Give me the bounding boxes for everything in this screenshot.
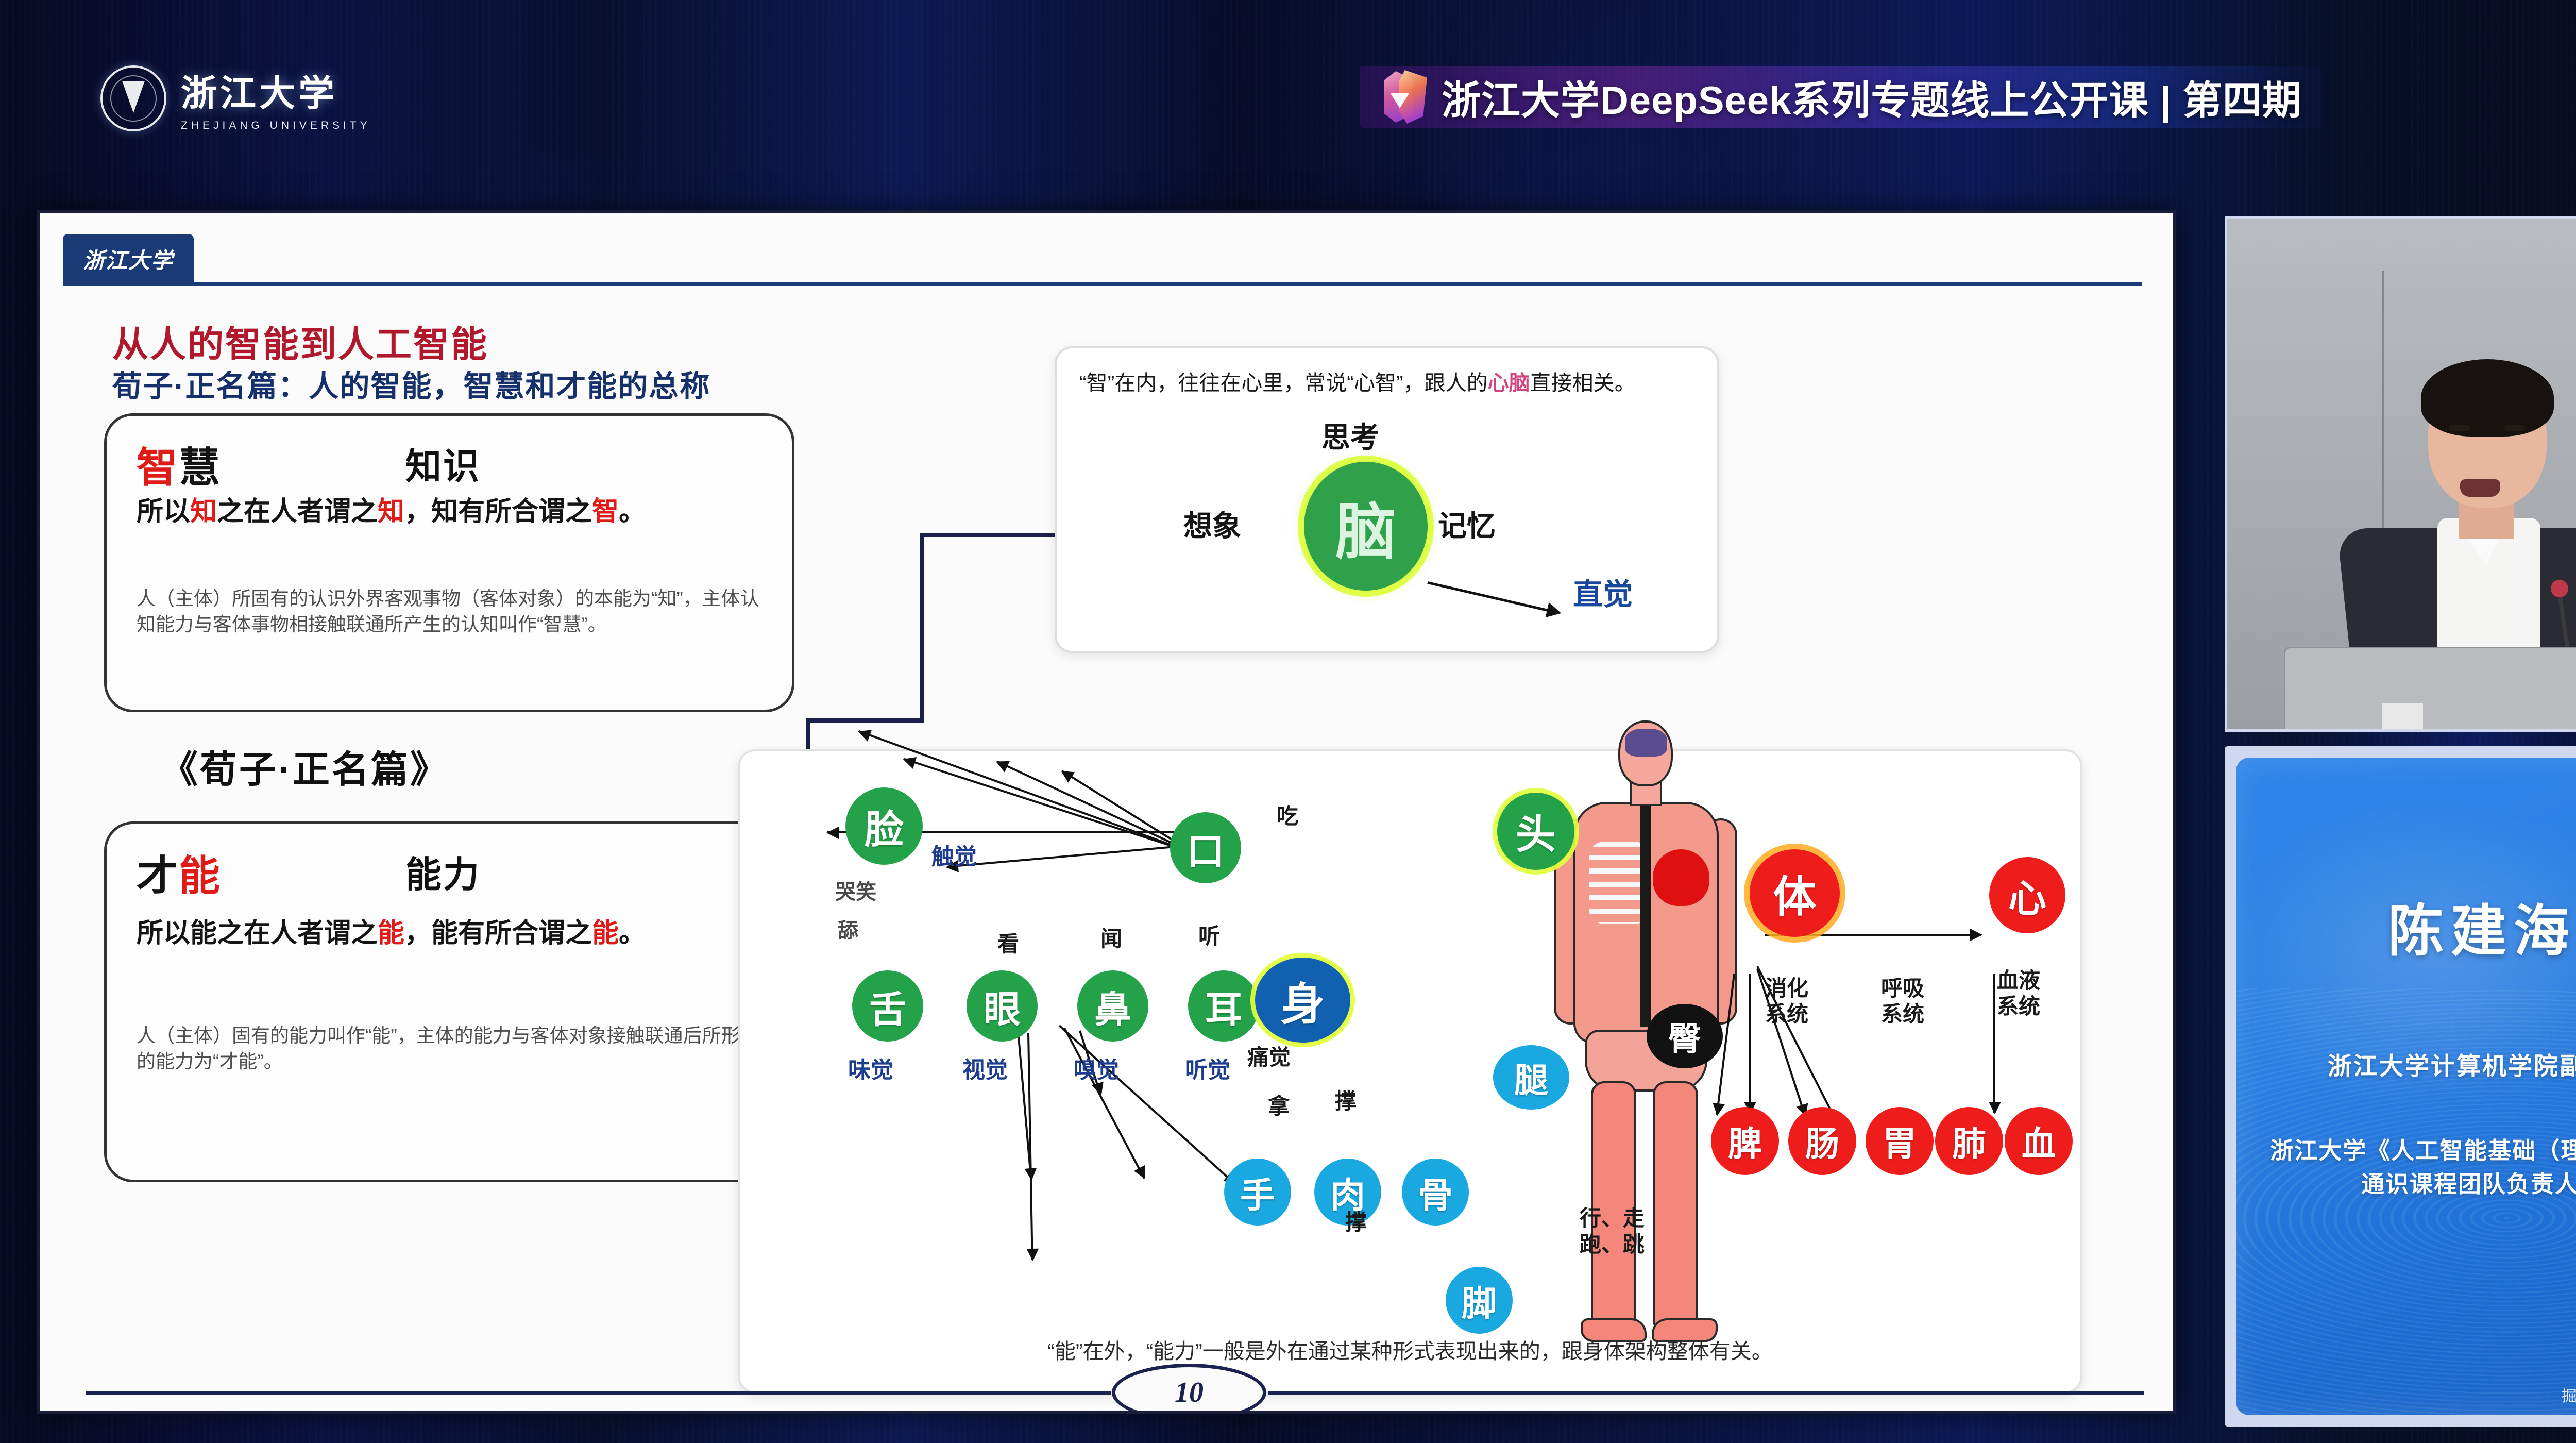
node-bone[interactable]: 骨 [1402, 1159, 1469, 1226]
card-ability-term-b: 能力 [405, 846, 481, 898]
arrow-head-to-mouth [947, 844, 1194, 868]
body-diagram-panel: 头 脸 口 舌 眼 鼻 耳 身 手 肉 骨 腿 脚 臀 体 心 脾 肠 胃 肺 … [738, 749, 2082, 1394]
node-nose[interactable]: 鼻 [1077, 970, 1148, 1042]
label-pain: 痛觉 [1247, 1040, 1291, 1071]
node-leg[interactable]: 腿 [1493, 1045, 1569, 1110]
label-walk-run-jump: 行、走 跑、跳 [1580, 1205, 1645, 1257]
card-wisdom-note: 人（主体）所固有的认识外界客观事物（客体对象）的本能为“知”，主体认知能力与客体… [137, 586, 773, 638]
card-ability: 才能 能力 所以能之在人者谓之能，能有所合谓之能。 人（主体）固有的能力叫作“能… [104, 821, 794, 1182]
card-ability-term: 才能 [137, 843, 221, 902]
course-banner: 浙江大学DeepSeek系列专题线上公开课 | 第四期 [1360, 66, 2323, 128]
arrow-head-to-nose [997, 761, 1194, 854]
zju-seal-icon [100, 65, 166, 131]
node-mouth[interactable]: 口 [1170, 812, 1241, 883]
slide-panel[interactable]: 浙江大学 从人的智能到人工智能 荀子·正名篇：人的智能，智慧和才能的总称 智慧 … [37, 210, 2176, 1414]
label-eat: 吃 [1277, 799, 1298, 830]
slide-brand-tab: 浙江大学 [63, 234, 194, 283]
deepseek-play-logo-icon [1381, 70, 1428, 124]
watermark: 掘金技术社区 @ 吾鸣 [2562, 1383, 2576, 1406]
source-citation: 《荀子·正名篇》 [161, 739, 449, 793]
speaker-info-card: 陈建海 浙江大学计算机学院副教授 浙江大学《人工智能基础（理工农医）》通识课程团… [2225, 746, 2576, 1427]
label-circulatory-system: 血液 系统 [1997, 968, 2040, 1020]
node-brain[interactable]: 脑 [1304, 462, 1428, 591]
card-wisdom-term-b: 知识 [405, 438, 481, 490]
node-blood[interactable]: 血 [2005, 1107, 2073, 1175]
arrow-heart-to-blood [1993, 974, 1995, 1113]
node-eye[interactable]: 眼 [967, 970, 1038, 1042]
zju-logo: 浙江大学 ZHEJIANG UNIVERSITY [100, 64, 371, 132]
node-intestine[interactable]: 肠 [1788, 1107, 1856, 1175]
node-hip[interactable]: 臀 [1647, 1004, 1723, 1068]
node-hand[interactable]: 手 [1224, 1159, 1291, 1226]
banner-title: 浙江大学DeepSeek系列专题线上公开课 | 第四期 [1442, 69, 2302, 125]
connector-top [806, 718, 920, 723]
card-ability-note: 人（主体）固有的能力叫作“能”，主体的能力与客体对象接触联通后所形成的能力为“才… [137, 1023, 773, 1075]
arrow-to-intuition [1427, 581, 1559, 614]
label-sight: 视觉 [962, 1051, 1008, 1084]
speaker-role: 浙江大学计算机学院副教授 [2236, 1046, 2576, 1082]
node-ti[interactable]: 体 [1750, 849, 1840, 937]
node-stomach[interactable]: 胃 [1866, 1107, 1934, 1175]
connector-brain-vertical [920, 533, 924, 723]
label-imagine: 想象 [1183, 503, 1241, 545]
arrow-body-to-flesh [1063, 1028, 1145, 1179]
node-shen[interactable]: 身 [1255, 958, 1350, 1043]
node-spleen[interactable]: 脾 [1711, 1107, 1779, 1175]
label-intuition: 直觉 [1573, 570, 1633, 613]
speaker-name: 陈建海 [2236, 886, 2576, 967]
page-number: 10 [1175, 1376, 1204, 1409]
slide-brand-tab-label: 浙江大学 [83, 243, 174, 275]
speaker-video-feed[interactable] [2225, 216, 2576, 732]
connector-brain-horizontal [920, 533, 1059, 537]
brain-note: “智”在内，往往在心里，常说“心智”，跟人的心脑直接相关。 [1079, 368, 1700, 398]
zju-name-en: ZHEJIANG UNIVERSITY [181, 120, 371, 132]
slide-header-rule [63, 282, 2142, 286]
label-listen: 听 [1198, 919, 1220, 950]
label-support-2: 撑 [1345, 1205, 1367, 1236]
label-memory: 记忆 [1438, 503, 1496, 545]
label-think: 思考 [1321, 414, 1379, 456]
label-touch: 触觉 [931, 838, 977, 871]
card-ability-quote: 所以能之在人者谓之能，能有所合谓之能。 [137, 916, 774, 952]
node-ear[interactable]: 耳 [1188, 970, 1259, 1042]
node-face[interactable]: 脸 [845, 787, 923, 865]
brain-panel: “智”在内，往往在心里，常说“心智”，跟人的心脑直接相关。 思考 想象 记忆 脑… [1055, 346, 1719, 653]
label-digestive-system: 消化 系统 [1765, 976, 1808, 1028]
node-heart[interactable]: 心 [1989, 857, 2065, 933]
label-cry-laugh: 哭笑 [835, 875, 876, 905]
label-hearing: 听觉 [1185, 1051, 1230, 1084]
node-tongue[interactable]: 舌 [852, 970, 923, 1042]
node-lung[interactable]: 肺 [1935, 1107, 2003, 1175]
label-lick: 舔 [838, 914, 858, 944]
footer-rule-left [86, 1391, 1111, 1395]
node-brain-label: 脑 [1335, 482, 1396, 571]
label-sniff: 闻 [1100, 921, 1122, 953]
label-support-1: 撑 [1335, 1084, 1357, 1115]
body-diagram-caption: “能”在外，“能力”一般是外在通过某种形式表现出来的，跟身体架构整体有关。 [740, 1334, 2080, 1365]
page-title: 从人的智能到人工智能 [112, 315, 488, 367]
zju-name-cn: 浙江大学 [181, 64, 371, 116]
speaker-affiliation: 浙江大学《人工智能基础（理工农医）》通识课程团队负责人） [2263, 1134, 2576, 1201]
arrow-ti-to-intestine [1749, 974, 1751, 1113]
card-wisdom: 智慧 知识 所以知之在人者谓之知，知有所合谓之智。 人（主体）所固有的认识外界客… [104, 413, 794, 712]
label-respiratory-system: 呼吸 系统 [1881, 976, 1924, 1028]
label-grab: 拿 [1268, 1089, 1290, 1120]
node-foot[interactable]: 脚 [1446, 1267, 1513, 1334]
label-smell: 嗅觉 [1074, 1051, 1119, 1084]
label-look: 看 [997, 927, 1019, 958]
footer-rule-right [1268, 1391, 2144, 1395]
page-subtitle: 荀子·正名篇：人的智能，智慧和才能的总称 [112, 362, 710, 405]
card-wisdom-quote: 所以知之在人者谓之知，知有所合谓之智。 [137, 494, 774, 530]
node-head[interactable]: 头 [1497, 793, 1574, 870]
card-wisdom-term: 智慧 [137, 434, 221, 494]
label-taste: 味觉 [848, 1051, 893, 1084]
